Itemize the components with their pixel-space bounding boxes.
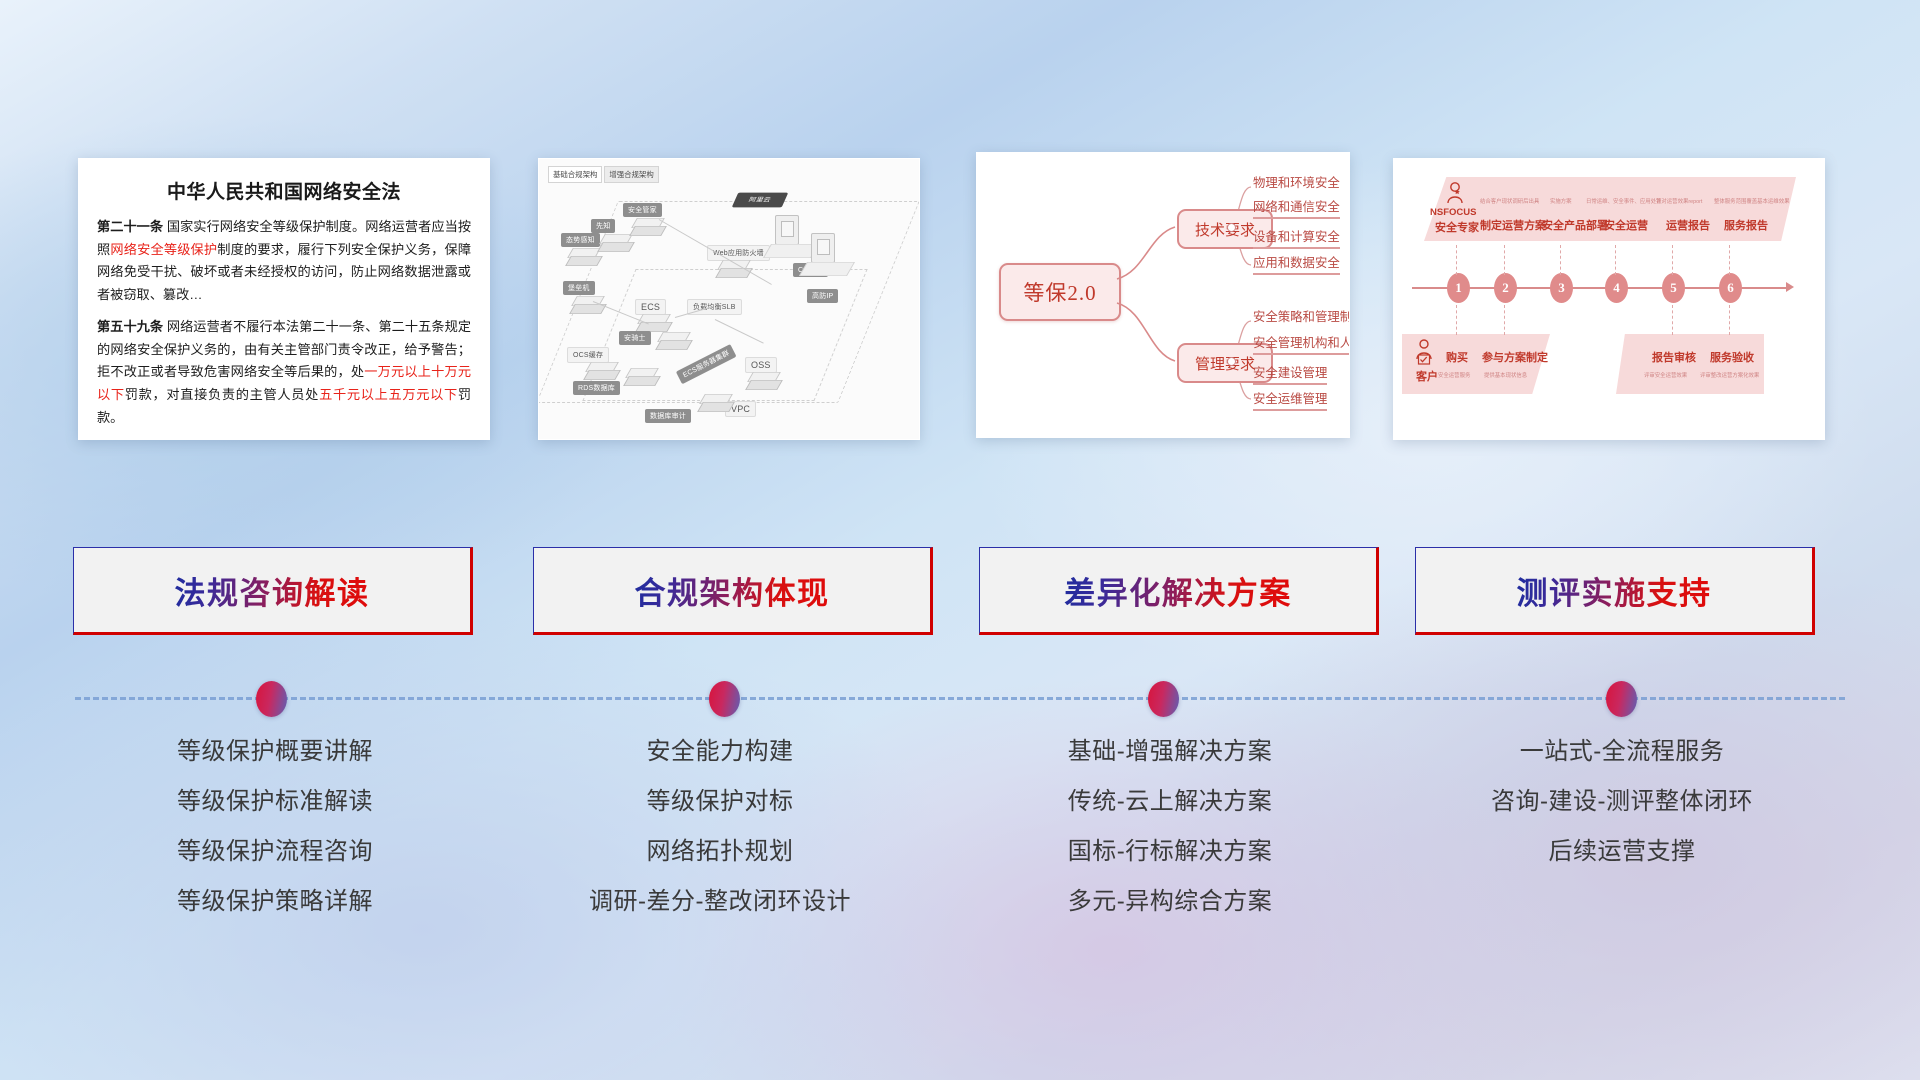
timeline-top-title-4: 运营报告: [1666, 217, 1710, 233]
list-item: 基础-增强解决方案: [940, 740, 1400, 764]
node-rds: [625, 365, 659, 389]
timeline-step-4[interactable]: 4: [1605, 273, 1628, 303]
law-article-21: 第二十一条 国家实行网络安全等级保护制度。网络运营者应当按照网络安全等级保护制度…: [97, 216, 471, 307]
node-anqishi: [657, 329, 691, 353]
label-aliyun: 阿里云: [732, 193, 788, 208]
feature-list-items: 安全能力构建 等级保护对标 网络拓扑规划 调研-差分-整改闭环设计: [490, 740, 950, 914]
node-situational-awareness: [567, 245, 601, 269]
node-ca-certificate: [775, 215, 799, 245]
service-timeline-diagram: NSFOCUS 安全专家 客户 1 2 3 4 5 6: [1394, 159, 1824, 439]
article-59-text-b: 罚款，对直接负责的主管人员处: [125, 387, 319, 402]
list-item: 后续运营支撑: [1392, 840, 1852, 864]
feature-list-items: 基础-增强解决方案 传统-云上解决方案 国标-行标解决方案 多元-异构综合方案: [940, 740, 1400, 914]
label-slb: 负载均衡SLB: [687, 299, 742, 315]
headline-box-differentiated-solution[interactable]: 差异化解决方案: [979, 547, 1379, 635]
timeline-stem: [1504, 245, 1506, 275]
timeline-stem: [1560, 245, 1562, 275]
dashed-connector-line: [75, 697, 1845, 700]
headline-box-regulation-consulting[interactable]: 法规咨询解读: [73, 547, 473, 635]
label-db-audit: 数据库审计: [645, 409, 691, 423]
feature-list-items: 一站式-全流程服务 咨询-建设-测评整体闭环 后续运营支撑: [1392, 740, 1852, 864]
list-item: 咨询-建设-测评整体闭环: [1392, 790, 1852, 814]
law-document: 中华人民共和国网络安全法 第二十一条 国家实行网络安全等级保护制度。网络运营者应…: [79, 159, 489, 439]
mindmap-collapse-dot-technical[interactable]: [1227, 223, 1236, 232]
timeline-top-title-3: 安全运营: [1604, 217, 1648, 233]
card-law-screenshot[interactable]: 中华人民共和国网络安全法 第二十一条 国家实行网络安全等级保护制度。网络运营者应…: [78, 158, 490, 440]
article-59-label: 第五十九条: [97, 319, 163, 334]
article-59-highlight-b: 五千元以上五万元以下: [319, 387, 458, 402]
article-21-label: 第二十一条: [97, 219, 163, 234]
slide-canvas: 中华人民共和国网络安全法 第二十一条 国家实行网络安全等级保护制度。网络运营者应…: [0, 0, 1920, 1080]
card-timeline-screenshot[interactable]: NSFOCUS 安全专家 客户 1 2 3 4 5 6: [1393, 158, 1825, 440]
law-article-59: 第五十九条 网络运营者不履行本法第二十一条、第二十五条规定的网络安全保护义务的，…: [97, 316, 471, 430]
expert-label-line2: 安全专家: [1435, 219, 1479, 235]
headline-box-compliance-architecture[interactable]: 合规架构体现: [533, 547, 933, 635]
timeline-marker-dot-1[interactable]: [256, 681, 287, 717]
headline-box-assessment-support[interactable]: 测评实施支持: [1415, 547, 1815, 635]
timeline-stem: [1615, 245, 1617, 275]
node-anti-ddos: [811, 233, 835, 263]
timeline-bottom-sub-4: 评审整改运营方案化效果: [1700, 371, 1759, 379]
list-item: 国标-行标解决方案: [940, 840, 1400, 864]
mindmap-leaf-physical-env: 物理和环境安全: [1253, 173, 1340, 193]
mindmap-leaf-device-compute: 设备和计算安全: [1253, 227, 1340, 249]
architecture-diagram: 基础合规架构 增强合规架构 阿里云 态势感知 先知 安全管家 堡垒机 ECS 安…: [539, 159, 919, 439]
architecture-tabs[interactable]: 基础合规架构 增强合规架构: [548, 166, 659, 183]
node-oss: [747, 369, 781, 393]
tab-enhanced-compliance[interactable]: 增强合规架构: [604, 166, 658, 183]
list-item: 调研-差分-整改闭环设计: [490, 890, 950, 914]
article-21-highlight: 网络安全等级保护: [110, 242, 217, 257]
timeline-marker-dot-3[interactable]: [1148, 681, 1179, 717]
tab-basic-compliance[interactable]: 基础合规架构: [548, 166, 602, 183]
node-vpc: [699, 391, 733, 415]
timeline-top-sub-2: 实施方案: [1550, 197, 1572, 205]
card-architecture-screenshot[interactable]: 基础合规架构 增强合规架构 阿里云 态势感知 先知 安全管家 堡垒机 ECS 安…: [538, 158, 920, 440]
timeline-bottom-sub-3: 评审安全运营效果: [1644, 371, 1687, 379]
expert-label-line1: NSFOCUS: [1430, 207, 1476, 218]
list-item: 多元-异构综合方案: [940, 890, 1400, 914]
timeline-stem: [1672, 245, 1674, 275]
expert-person-icon: [1444, 181, 1466, 205]
timeline-step-1[interactable]: 1: [1447, 273, 1470, 303]
timeline-top-title-2: 安全产品部署: [1542, 217, 1608, 233]
timeline-stem: [1729, 245, 1731, 275]
timeline-bottom-sub-2: 提供基本现状信息: [1484, 371, 1527, 379]
law-title: 中华人民共和国网络安全法: [97, 177, 471, 204]
mindmap-leaf-policy-system: 安全策略和管理制度: [1253, 307, 1350, 327]
headline-label-4: 测评实施支持: [1517, 568, 1712, 613]
list-item: 等级保护策略详解: [45, 890, 505, 914]
customer-person-icon: [1414, 339, 1434, 365]
mindmap-leaf-ops-mgmt: 安全运维管理: [1253, 389, 1327, 411]
mindmap-diagram: 等保2.0 技术要求 物理和环境安全 网络和通信安全 设备和计算安全 应用和数据…: [977, 153, 1349, 437]
timeline-bottom-sub-1: 安全运营服务: [1438, 371, 1470, 379]
timeline-stem: [1729, 305, 1731, 335]
node-xianzhi: [599, 231, 633, 255]
timeline-top-sub-3: 日常运维、安全事件、应用处置: [1586, 197, 1661, 205]
timeline-bottom-title-1: 购买: [1446, 349, 1468, 365]
timeline-top-title-1: 制定运营方案: [1480, 217, 1546, 233]
headline-label-3: 差异化解决方案: [1064, 568, 1292, 613]
list-item: 等级保护流程咨询: [45, 840, 505, 864]
mindmap-leaf-app-data: 应用和数据安全: [1253, 253, 1340, 275]
timeline-step-2[interactable]: 2: [1494, 273, 1517, 303]
label-anqishi: 安骑士: [619, 331, 651, 345]
feature-list-solutions: 基础-增强解决方案 传统-云上解决方案 国标-行标解决方案 多元-异构综合方案: [940, 740, 1400, 940]
timeline-marker-dot-4[interactable]: [1606, 681, 1637, 717]
mindmap-leaf-org-personnel: 安全管理机构和人员: [1253, 333, 1350, 355]
label-anti-ddos-ip: 高防IP: [807, 289, 838, 303]
timeline-top-sub-4: 针对运营效果report: [1656, 197, 1702, 205]
headline-label-1: 法规咨询解读: [175, 568, 370, 613]
mindmap-collapse-dot-management[interactable]: [1227, 357, 1236, 366]
timeline-marker-dot-2[interactable]: [709, 681, 740, 717]
timeline-stem: [1504, 305, 1506, 335]
customer-label: 客户: [1416, 368, 1438, 384]
timeline-step-3[interactable]: 3: [1550, 273, 1573, 303]
timeline-step-5[interactable]: 5: [1662, 273, 1685, 303]
list-item: 安全能力构建: [490, 740, 950, 764]
feature-list-regulation: 等级保护概要讲解 等级保护标准解读 等级保护流程咨询 等级保护策略详解: [45, 740, 505, 940]
timeline-bottom-title-3: 报告审核: [1652, 349, 1696, 365]
node-ocs: [585, 359, 619, 383]
timeline-top-sub-1: 结合客户现状调研后出具: [1480, 197, 1539, 205]
list-item: 等级保护标准解读: [45, 790, 505, 814]
timeline-stem: [1456, 245, 1458, 275]
headline-label-2: 合规架构体现: [635, 568, 830, 613]
list-item: 等级保护对标: [490, 790, 950, 814]
list-item: 等级保护概要讲解: [45, 740, 505, 764]
timeline-step-6[interactable]: 6: [1719, 273, 1742, 303]
list-item: 传统-云上解决方案: [940, 790, 1400, 814]
timeline-top-sub-5: 整体服务范围覆盖基本运维效果: [1714, 197, 1789, 205]
card-mindmap-screenshot[interactable]: 等保2.0 技术要求 物理和环境安全 网络和通信安全 设备和计算安全 应用和数据…: [976, 152, 1350, 438]
list-item: 一站式-全流程服务: [1392, 740, 1852, 764]
plate-ddos: [799, 262, 855, 276]
timeline-stem: [1672, 305, 1674, 335]
timeline-stem: [1456, 305, 1458, 335]
mindmap-leaf-network-comm: 网络和通信安全: [1253, 197, 1340, 219]
feature-list-items: 等级保护概要讲解 等级保护标准解读 等级保护流程咨询 等级保护策略详解: [45, 740, 505, 914]
label-rds-database: RDS数据库: [573, 381, 620, 395]
timeline-top-title-5: 服务报告: [1724, 217, 1768, 233]
feature-list-architecture: 安全能力构建 等级保护对标 网络拓扑规划 调研-差分-整改闭环设计: [490, 740, 950, 940]
timeline-bottom-title-2: 参与方案制定: [1482, 349, 1548, 365]
feature-list-assessment: 一站式-全流程服务 咨询-建设-测评整体闭环 后续运营支撑: [1392, 740, 1852, 890]
timeline-bottom-title-4: 服务验收: [1710, 349, 1754, 365]
list-item: 网络拓扑规划: [490, 840, 950, 864]
mindmap-leaf-construction-mgmt: 安全建设管理: [1253, 363, 1327, 385]
timeline-arrow-head: [1786, 282, 1794, 292]
